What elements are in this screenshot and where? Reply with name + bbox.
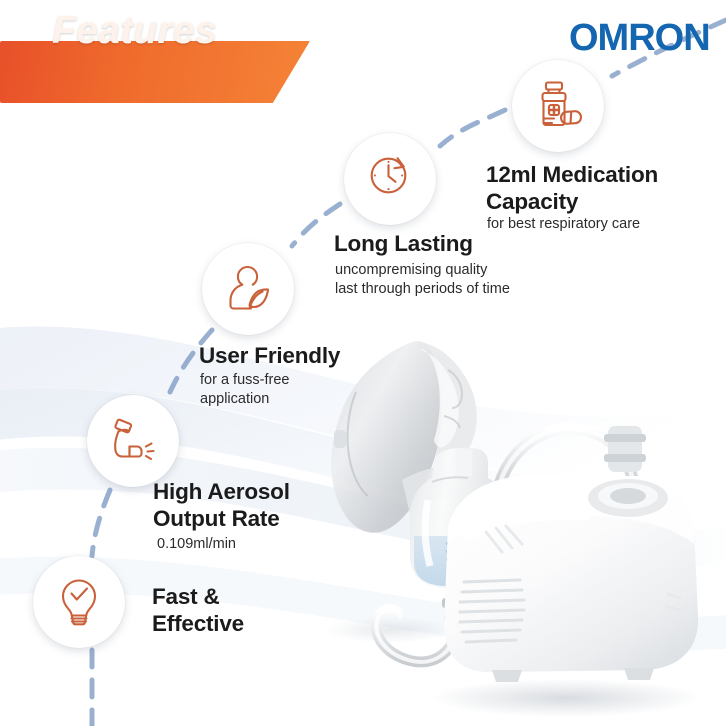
feature-subtitle: uncompremising quality last through peri…	[335, 261, 575, 299]
feature-title: User Friendly	[199, 342, 429, 369]
medicine-bottle-pill-icon	[512, 60, 604, 152]
lightbulb-check-icon	[33, 556, 125, 648]
feature-subtitle: 0.109ml/min	[157, 535, 397, 554]
page-title: Features	[52, 6, 217, 56]
infographic-canvas: Features OMRON 12ml Medication Capacity …	[0, 0, 726, 726]
inhaler-spray-icon	[87, 395, 179, 487]
feature-subtitle: for a fuss-free application	[200, 371, 430, 409]
feature-title: 12ml Medication Capacity	[486, 161, 716, 215]
feature-title: High Aerosol Output Rate	[153, 478, 393, 532]
clock-arrow-icon	[344, 133, 436, 225]
omron-logo: OMRON	[569, 18, 710, 58]
feature-title: Long Lasting	[334, 230, 574, 257]
feature-title: Fast & Effective	[152, 583, 372, 637]
person-leaf-icon	[202, 243, 294, 335]
